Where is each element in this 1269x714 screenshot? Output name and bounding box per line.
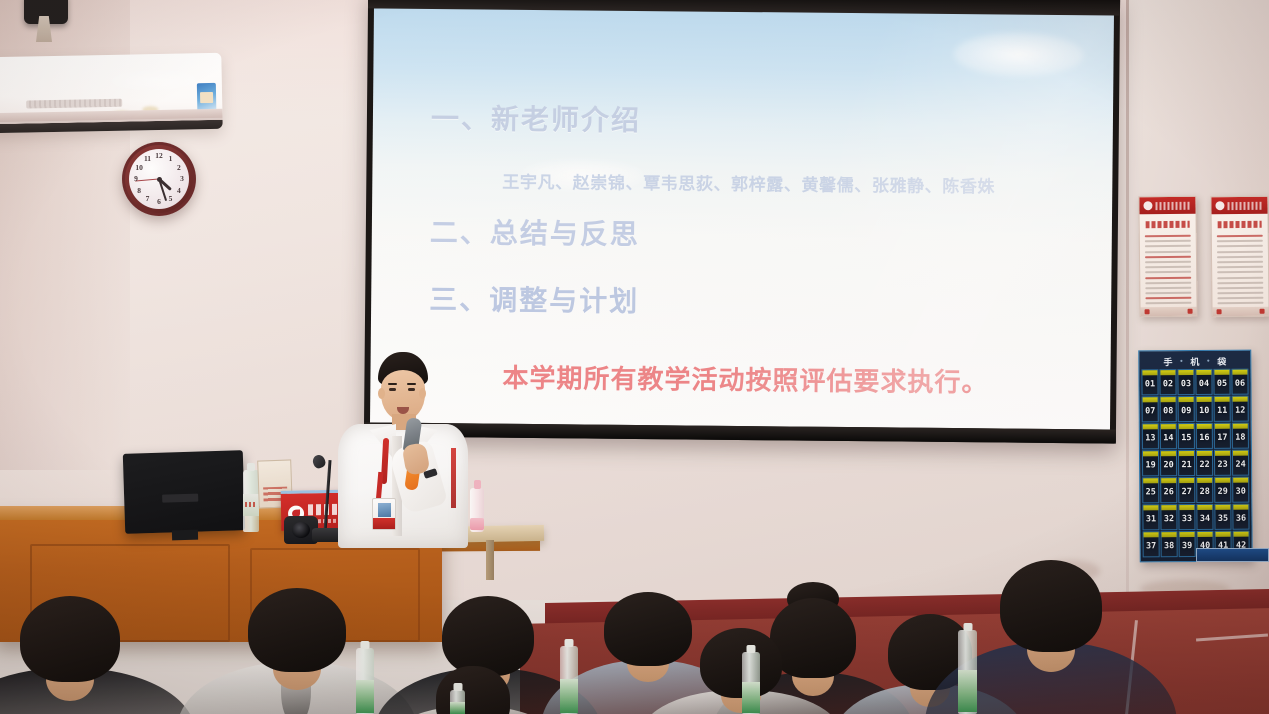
pocket-number: 29 <box>1218 487 1228 497</box>
pocket-number: 03 <box>1181 379 1191 389</box>
phone-pocket[interactable]: 14 <box>1160 423 1177 449</box>
audience-head <box>1000 560 1102 652</box>
pocket-band <box>1197 451 1212 456</box>
pocket-number: 37 <box>1146 541 1156 551</box>
pocket-number: 30 <box>1236 487 1246 497</box>
pocket-band <box>1215 451 1230 456</box>
phone-pocket[interactable]: 10 <box>1196 396 1213 422</box>
clock-numeral: 7 <box>142 195 154 203</box>
audience-head <box>442 596 534 676</box>
bottle-label <box>742 682 760 713</box>
clock-numeral: 1 <box>165 155 177 163</box>
floor-marking-line <box>1196 633 1268 641</box>
pocket-number: 11 <box>1217 406 1227 416</box>
phone-pocket[interactable]: 22 <box>1196 450 1213 476</box>
wall-poster-left <box>1138 196 1197 318</box>
bottle-cap <box>453 683 462 691</box>
phone-pocket[interactable]: 23 <box>1214 450 1231 476</box>
water-bottle <box>450 690 465 714</box>
pocket-band <box>1143 397 1158 402</box>
phone-pocket[interactable]: 11 <box>1214 396 1231 422</box>
pocket-number: 35 <box>1218 514 1228 524</box>
ac-gloss <box>112 69 196 91</box>
ac-grille <box>26 99 122 109</box>
pocket-number: 15 <box>1181 433 1191 443</box>
poster-header-band <box>1211 197 1267 215</box>
pocket-number: 10 <box>1199 406 1209 416</box>
ac-energy-label <box>197 83 217 111</box>
badge-name-band <box>373 518 395 529</box>
badge-photo <box>378 503 391 517</box>
clock-numeral: 9 <box>130 175 142 183</box>
pocket-band <box>1197 424 1212 429</box>
poster-title-text <box>1218 221 1262 228</box>
audience-head <box>700 628 782 698</box>
poster-body-text <box>1217 235 1264 304</box>
slide-new-teacher-names: 王宇凡、赵崇锦、覃韦思荻、郭梓露、黄馨儒、张雅静、陈香姝 <box>502 168 995 198</box>
pocket-number: 05 <box>1217 379 1227 389</box>
poster-body-text <box>1145 235 1192 304</box>
phone-pocket[interactable]: 33 <box>1178 504 1195 530</box>
slide-heading-1: 一、新老师介绍 <box>431 105 641 135</box>
presenter-ear <box>419 388 426 399</box>
bottle-cap <box>361 641 370 649</box>
pocket-band <box>1198 532 1213 537</box>
phone-pocket[interactable]: 01 <box>1141 369 1158 395</box>
pocket-band <box>1179 397 1194 402</box>
clock-center-pin <box>157 177 162 182</box>
title-separator-dot: • <box>1206 357 1210 364</box>
bottle-cap <box>747 645 756 653</box>
split-air-conditioner <box>0 53 223 133</box>
bottle-label <box>450 702 465 714</box>
phone-pocket[interactable]: 02 <box>1159 369 1176 395</box>
pocket-band <box>1215 424 1230 429</box>
pocket-band <box>1143 451 1158 456</box>
wall-poster-right <box>1210 196 1269 318</box>
presenter-eye <box>389 388 396 391</box>
pocket-number: 17 <box>1217 433 1227 443</box>
bottle-label <box>243 494 259 516</box>
monitor-stand <box>172 530 198 541</box>
phone-pocket[interactable]: 17 <box>1214 423 1231 449</box>
clock-face: 121234567891011 <box>129 149 189 209</box>
slide-heading-2: 二、总结与反思 <box>430 219 640 249</box>
poster-footer <box>1213 307 1269 317</box>
pocket-band <box>1143 505 1158 510</box>
clock-numeral: 12 <box>153 152 165 160</box>
pocket-number: 04 <box>1199 379 1209 389</box>
pocket-band <box>1161 397 1176 402</box>
bottle-cap <box>963 623 972 631</box>
phone-pocket[interactable]: 07 <box>1142 396 1159 422</box>
phone-pocket[interactable]: 28 <box>1196 477 1213 503</box>
pocket-band <box>1180 532 1195 537</box>
phone-pocket[interactable]: 06 <box>1231 369 1248 395</box>
pocket-number: 01 <box>1145 379 1155 389</box>
bottle-label <box>958 670 977 712</box>
phone-pocket[interactable]: 36 <box>1232 504 1249 530</box>
phone-pocket[interactable]: 37 <box>1143 531 1160 557</box>
clock-numeral: 6 <box>153 198 165 206</box>
pocket-number: 13 <box>1145 433 1155 443</box>
pocket-number: 08 <box>1163 406 1173 416</box>
phone-pocket[interactable]: 39 <box>1179 531 1196 557</box>
bottle-cap <box>565 639 574 647</box>
pocket-band <box>1142 370 1157 375</box>
phone-pocket[interactable]: 34 <box>1196 504 1213 530</box>
pocket-band <box>1214 370 1229 375</box>
phone-pocket[interactable]: 31 <box>1142 504 1159 530</box>
pocket-band <box>1233 424 1248 429</box>
wall-smudge <box>1140 580 1230 598</box>
phone-pocket[interactable]: 25 <box>1142 477 1159 503</box>
pocket-number: 34 <box>1200 514 1210 524</box>
pocket-number: 12 <box>1235 406 1245 416</box>
slide-cloud <box>953 32 1083 77</box>
phone-board-title-char: 手 <box>1163 355 1172 368</box>
slide-highlight-note: 本学期所有教学活动按照评估要求执行。 <box>502 358 988 400</box>
pocket-band <box>1233 505 1248 510</box>
analog-wall-clock: 121234567891011 <box>122 142 196 216</box>
pocket-band <box>1179 451 1194 456</box>
phone-pocket[interactable]: 12 <box>1232 396 1249 422</box>
pocket-number: 14 <box>1163 433 1173 443</box>
pocket-number: 27 <box>1182 487 1192 497</box>
pocket-band <box>1161 424 1176 429</box>
pocket-band <box>1196 370 1211 375</box>
phone-board-title-char: 机 <box>1190 354 1199 367</box>
phone-pocket[interactable]: 26 <box>1160 477 1177 503</box>
pocket-number: 28 <box>1200 487 1210 497</box>
slide-heading-3: 三、调整与计划 <box>429 286 639 316</box>
pocket-number: 33 <box>1182 514 1192 524</box>
phone-pocket[interactable]: 04 <box>1195 369 1212 395</box>
clock-numeral: 3 <box>176 175 188 183</box>
phone-board-title: 手•机•袋 <box>1141 353 1248 370</box>
pocket-band <box>1160 370 1175 375</box>
pocket-number: 22 <box>1199 460 1209 470</box>
pocket-band <box>1162 532 1177 537</box>
phone-pocket[interactable]: 35 <box>1214 504 1231 530</box>
pocket-band <box>1216 532 1231 537</box>
poster-logo <box>1155 201 1191 209</box>
phone-pocket[interactable]: 09 <box>1178 396 1195 422</box>
clock-numeral: 8 <box>133 187 145 195</box>
jacket-red-stripe <box>451 448 456 508</box>
phone-pocket[interactable]: 27 <box>1178 477 1195 503</box>
phone-pocket[interactable]: 15 <box>1178 423 1195 449</box>
pocket-number: 09 <box>1181 406 1191 416</box>
phone-pocket[interactable]: 32 <box>1160 504 1177 530</box>
pocket-band <box>1197 478 1212 483</box>
wall-corner-edge <box>1126 0 1129 600</box>
presenter-eyebrow <box>388 383 397 385</box>
pocket-band <box>1233 397 1248 402</box>
pocket-number: 18 <box>1235 433 1245 443</box>
pocket-band <box>1143 478 1158 483</box>
bottle-label <box>356 680 374 713</box>
pocket-band <box>1197 397 1212 402</box>
phone-board-title-char: 袋 <box>1217 354 1226 367</box>
pocket-number: 07 <box>1145 406 1155 416</box>
lecture-hall-photo: 121234567891011 一、新老师介绍 王宇凡、赵崇锦、覃韦思荻、郭梓露… <box>0 0 1269 714</box>
phone-pocket[interactable]: 16 <box>1196 423 1213 449</box>
id-badge <box>372 498 396 530</box>
phone-pocket[interactable]: 08 <box>1160 396 1177 422</box>
phone-pocket[interactable]: 38 <box>1161 531 1178 557</box>
pocket-band <box>1179 478 1194 483</box>
projection-screen: 一、新老师介绍 王宇凡、赵崇锦、覃韦思荻、郭梓露、黄馨儒、张雅静、陈香姝 二、总… <box>364 0 1120 444</box>
phone-pocket-grid: 0102030405060708091011121314151617181920… <box>1141 369 1249 558</box>
audience-head <box>604 592 692 666</box>
pocket-number: 21 <box>1181 460 1191 470</box>
water-bottle <box>742 652 760 714</box>
clock-numeral: 10 <box>133 164 145 172</box>
pocket-band <box>1215 478 1230 483</box>
pocket-number: 31 <box>1146 514 1156 524</box>
pocket-band <box>1179 505 1194 510</box>
phone-pocket[interactable]: 20 <box>1160 450 1177 476</box>
phone-pocket[interactable]: 30 <box>1232 477 1249 503</box>
pocket-number: 23 <box>1217 460 1227 470</box>
audience-head <box>20 596 120 682</box>
phone-pocket[interactable]: 19 <box>1142 450 1159 476</box>
phone-pocket[interactable]: 05 <box>1213 369 1230 395</box>
side-table-leg <box>486 540 494 580</box>
pocket-band <box>1144 532 1159 537</box>
poster-footer <box>1141 307 1197 317</box>
phone-pocket-board: 手•机•袋 0102030405060708091011121314151617… <box>1138 350 1252 563</box>
pocket-number: 20 <box>1163 460 1173 470</box>
water-bottle-desk <box>243 470 259 532</box>
pocket-number: 36 <box>1236 514 1246 524</box>
desktop-monitor <box>123 450 245 534</box>
pocket-number: 25 <box>1146 487 1156 497</box>
phone-pocket[interactable]: 13 <box>1142 423 1159 449</box>
pocket-band <box>1143 424 1158 429</box>
pocket-band <box>1161 505 1176 510</box>
pocket-band <box>1197 505 1212 510</box>
water-bottle <box>356 648 374 714</box>
audience-head <box>248 588 346 672</box>
pocket-number: 24 <box>1235 460 1245 470</box>
pocket-band <box>1232 370 1247 375</box>
water-bottle <box>560 646 578 714</box>
pocket-band <box>1161 478 1176 483</box>
pocket-number: 06 <box>1235 379 1245 389</box>
presenter-eyebrow <box>407 383 416 385</box>
phone-pocket[interactable]: 21 <box>1178 450 1195 476</box>
presentation-slide: 一、新老师介绍 王宇凡、赵崇锦、覃韦思荻、郭梓露、黄馨儒、张雅静、陈香姝 二、总… <box>370 8 1114 429</box>
presenter-ear <box>378 388 385 399</box>
phone-pocket[interactable]: 18 <box>1232 423 1249 449</box>
audience-head <box>770 598 856 678</box>
clock-numeral: 5 <box>165 195 177 203</box>
pocket-number: 39 <box>1182 541 1192 551</box>
pocket-number: 16 <box>1199 433 1209 443</box>
pocket-band <box>1161 451 1176 456</box>
phone-pocket[interactable]: 24 <box>1232 450 1249 476</box>
clock-numeral: 2 <box>173 164 185 172</box>
pocket-band <box>1234 532 1249 537</box>
presenter-eye <box>408 388 415 391</box>
pocket-band <box>1179 424 1194 429</box>
bottle-label <box>560 679 578 713</box>
poster-logo <box>1227 201 1263 209</box>
poster-title-text <box>1146 221 1190 228</box>
pocket-number: 02 <box>1163 379 1173 389</box>
poster-header-band <box>1139 197 1195 215</box>
pocket-number: 19 <box>1145 460 1155 470</box>
pocket-band <box>1233 451 1248 456</box>
pocket-band <box>1178 370 1193 375</box>
blue-wall-sign <box>1196 548 1269 562</box>
presenter-with-microphone <box>330 352 476 548</box>
pocket-band <box>1233 478 1248 483</box>
water-bottle <box>958 630 977 714</box>
phone-pocket[interactable]: 29 <box>1214 477 1231 503</box>
title-separator-dot: • <box>1179 358 1183 365</box>
ceiling-mounted-speaker-icon <box>24 0 68 24</box>
pocket-number: 26 <box>1164 487 1174 497</box>
clock-numeral: 11 <box>142 155 154 163</box>
pocket-band <box>1215 397 1230 402</box>
pocket-number: 32 <box>1164 514 1174 524</box>
phone-pocket[interactable]: 03 <box>1177 369 1194 395</box>
pocket-band <box>1215 505 1230 510</box>
pocket-number: 38 <box>1164 541 1174 551</box>
clock-numeral: 4 <box>173 187 185 195</box>
